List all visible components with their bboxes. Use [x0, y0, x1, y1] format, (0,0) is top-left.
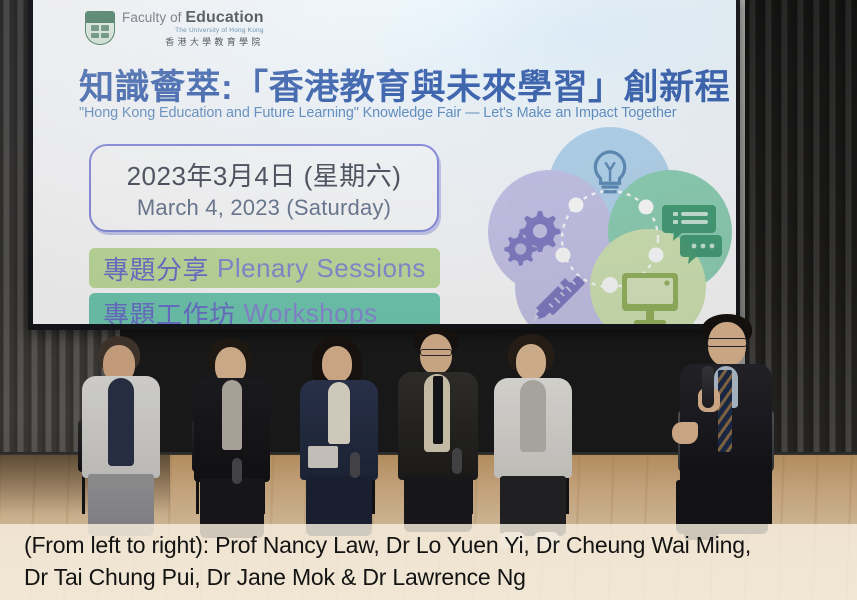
inner-shirt	[222, 380, 242, 450]
head	[322, 346, 352, 382]
venn-node-5	[649, 248, 664, 263]
session-pill-workshops-cn: 專題工作坊	[103, 295, 236, 325]
inner-top	[108, 378, 134, 466]
projection-screen: Faculty of Education The University of H…	[33, 0, 736, 324]
microphone	[232, 458, 242, 484]
event-date-cn: 2023年3月4日 (星期六)	[127, 156, 402, 193]
head	[516, 344, 546, 380]
session-pill-plenary-en: Plenary Sessions	[217, 253, 426, 284]
event-photograph: Faculty of Education The University of H…	[0, 0, 857, 600]
necktie	[433, 376, 443, 444]
microphone	[452, 448, 462, 474]
logo-university-name-cn: 香港大學教育學院	[122, 38, 264, 47]
hku-crest-icon	[85, 11, 115, 45]
caption-line-2: Dr Tai Chung Pui, Dr Jane Mok & Dr Lawre…	[24, 562, 857, 594]
event-date-box: 2023年3月4日 (星期六) March 4, 2023 (Saturday)	[89, 144, 439, 232]
venn-node-4	[556, 248, 571, 263]
venn-node-3	[639, 200, 654, 215]
session-pill-workshops: 專題工作坊 Workshops	[89, 293, 440, 324]
projection-screen-frame: Faculty of Education The University of H…	[28, 0, 740, 330]
slide-headline-cn: 知識薈萃:「香港教育與未來學習」創新程	[79, 59, 729, 110]
session-pill-workshops-en: Workshops	[244, 298, 378, 325]
inner-blouse	[328, 382, 350, 444]
logo-faculty-prefix: Faculty of	[122, 10, 182, 25]
eyeglasses-icon	[420, 349, 452, 356]
logo-faculty-main: Education	[185, 9, 263, 26]
eyeglasses-icon	[707, 338, 747, 347]
session-pill-plenary: 專題分享 Plenary Sessions	[89, 248, 440, 288]
striped-necktie	[718, 370, 732, 452]
caption-line-1: (From left to right): Prof Nancy Law, Dr…	[24, 530, 857, 562]
venn-node-6	[602, 277, 618, 293]
inner-top	[520, 380, 546, 452]
microphone	[702, 366, 714, 408]
hku-faculty-of-education-logo: Faculty of Education The University of H…	[85, 10, 264, 47]
logo-university-name: The University of Hong Kong	[122, 28, 264, 35]
gesturing-hand	[672, 422, 698, 444]
photo-caption-bar: (From left to right): Prof Nancy Law, Dr…	[0, 524, 857, 600]
venn-diagram-graphic	[488, 127, 733, 324]
microphone	[350, 452, 360, 478]
venn-node-2	[569, 198, 584, 213]
document	[308, 446, 338, 468]
slide-subheadline-en: "Hong Kong Education and Future Learning…	[79, 105, 736, 121]
event-date-en: March 4, 2023 (Saturday)	[137, 195, 391, 221]
session-pill-plenary-cn: 專題分享	[103, 250, 209, 287]
